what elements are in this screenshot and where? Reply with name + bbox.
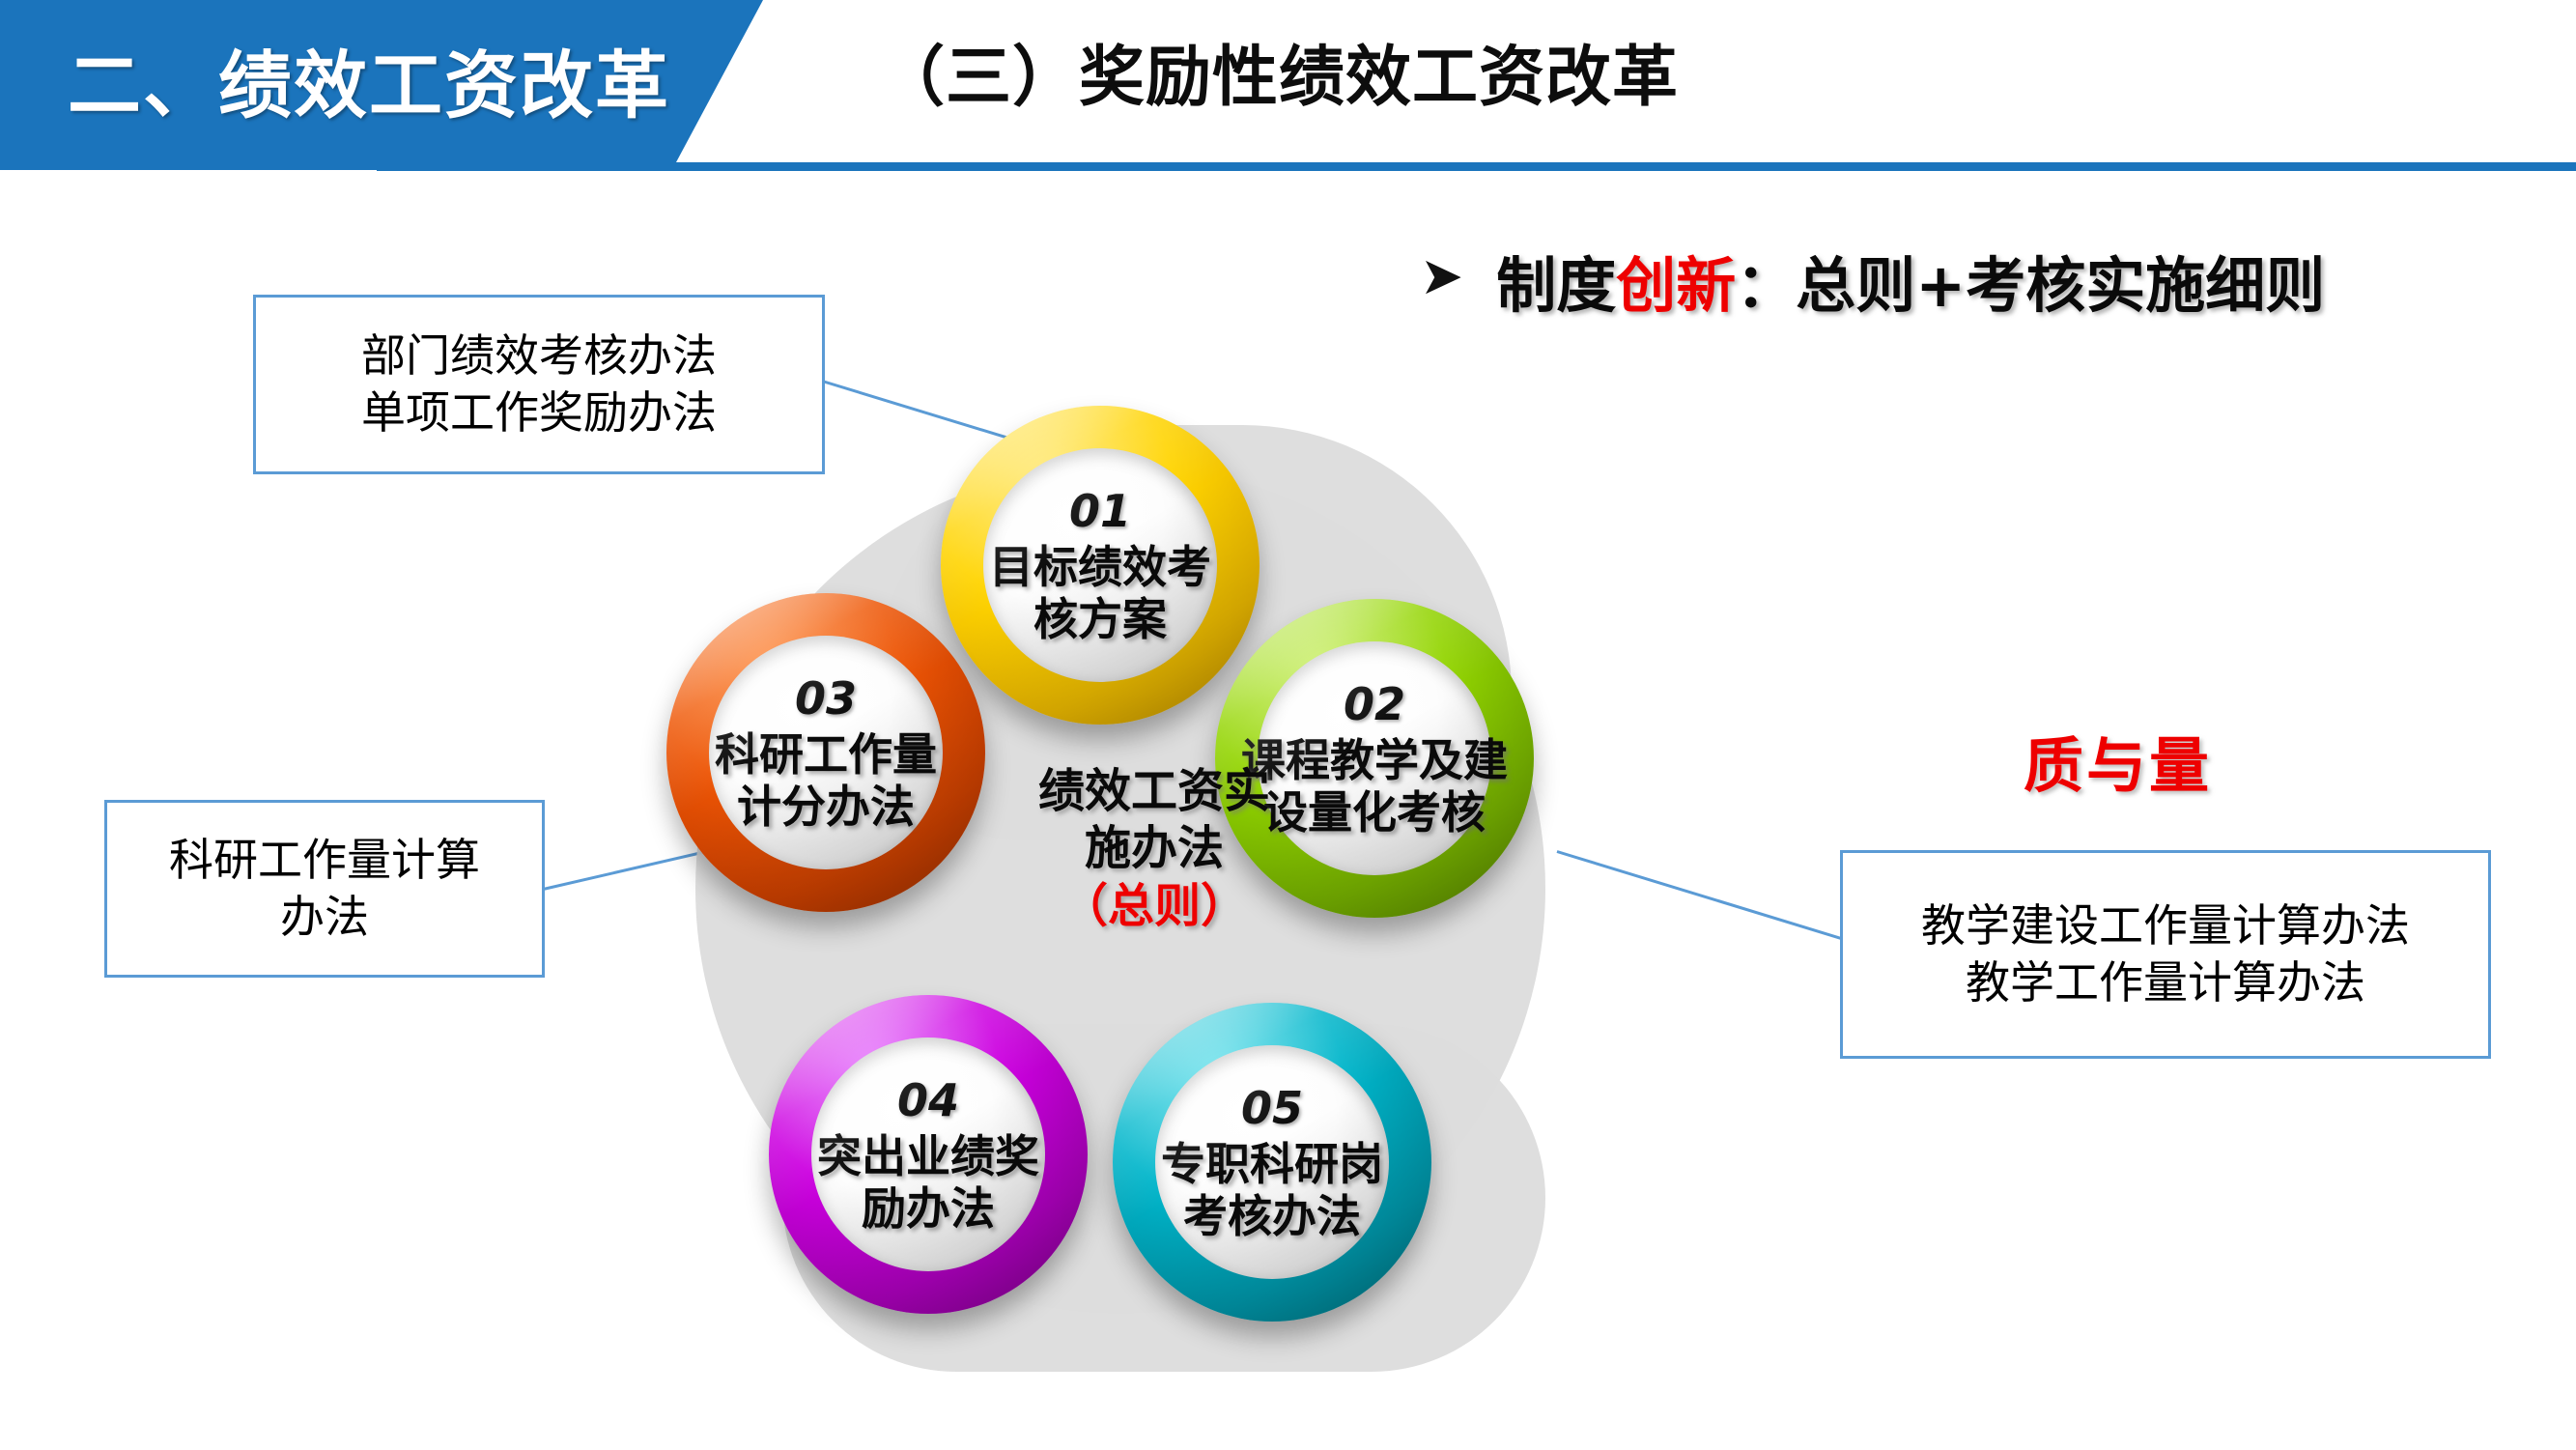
ring-item-01[interactable]: 01 目标绩效考 核方案 [941,406,1260,725]
ring-inner-05: 05 专职科研岗 考核办法 [1155,1045,1389,1279]
center-sublabel: （总则） [995,878,1314,935]
ring-label: 科研工作量 计分办法 [715,728,937,834]
header-underline-left [0,155,425,170]
callout-research-workload[interactable]: 科研工作量计算 办法 [104,800,545,978]
ring-label-line: 考核办法 [1161,1190,1383,1242]
callout-line: 单项工作奖励办法 [361,384,717,441]
bullet-prefix: 制度 [1496,250,1616,321]
quality-and-quantity-label: 质与量 [2024,717,2212,804]
ring-inner-04: 04 突出业绩奖 励办法 [811,1038,1045,1271]
callout-line: 办法 [280,889,369,946]
ring-label: 目标绩效考 核方案 [989,541,1211,646]
bullet-highlight: 创新 [1616,250,1736,321]
triangle-bullet-icon: ➤ [1420,250,1463,302]
callout-line: 部门绩效考核办法 [361,327,717,384]
callout-line: 科研工作量计算 [169,832,480,889]
callout-line: 教学工作量计算办法 [1966,954,2365,1011]
center-line: 绩效工资实 [995,763,1314,820]
slide-header: 二、绩效工资改革 （三）奖励性绩效工资改革 [0,0,2576,169]
section-title: 二、绩效工资改革 [68,12,686,147]
ring-label-line: 励办法 [817,1182,1039,1235]
bullet-suffix: ：总则+考核实施细则 [1736,250,2325,321]
ring-label-line: 科研工作量 [715,728,937,781]
ring-item-03[interactable]: 03 科研工作量 计分办法 [666,593,985,912]
ring-number: 05 [1241,1082,1303,1134]
ring-label-line: 核方案 [989,593,1211,645]
ring-label: 专职科研岗 考核办法 [1161,1138,1383,1243]
ring-number: 03 [795,672,857,725]
callout-teaching-workload[interactable]: 教学建设工作量计算办法 教学工作量计算办法 [1840,850,2491,1059]
diagram-center-label: 绩效工资实 施办法 （总则） [995,763,1314,935]
ring-label-line: 计分办法 [715,781,937,833]
performance-pay-ring-diagram: 01 目标绩效考 核方案 02 课程教学及建 设量化考核 03 科研工作量 计分… [666,406,1652,1381]
ring-number: 01 [1069,485,1131,537]
callout-line: 教学建设工作量计算办法 [1921,897,2410,954]
ring-inner-03: 03 科研工作量 计分办法 [709,636,943,869]
bullet-text: 制度创新：总则+考核实施细则 [1496,237,2325,324]
ring-number: 04 [897,1074,959,1126]
center-line: 施办法 [995,820,1314,877]
ring-label: 突出业绩奖 励办法 [817,1130,1039,1236]
ring-number: 02 [1344,678,1405,730]
institution-innovation-bullet: ➤ 制度创新：总则+考核实施细则 [1420,237,2325,324]
ring-inner-01: 01 目标绩效考 核方案 [983,448,1217,682]
ring-label-line: 专职科研岗 [1161,1138,1383,1190]
ring-label-line: 目标绩效考 [989,541,1211,593]
header-underline [377,162,2576,171]
slide-subtitle: （三）奖励性绩效工资改革 [879,23,1679,119]
ring-item-05[interactable]: 05 专职科研岗 考核办法 [1113,1003,1431,1322]
ring-label-line: 突出业绩奖 [817,1130,1039,1182]
ring-item-04[interactable]: 04 突出业绩奖 励办法 [769,995,1088,1314]
